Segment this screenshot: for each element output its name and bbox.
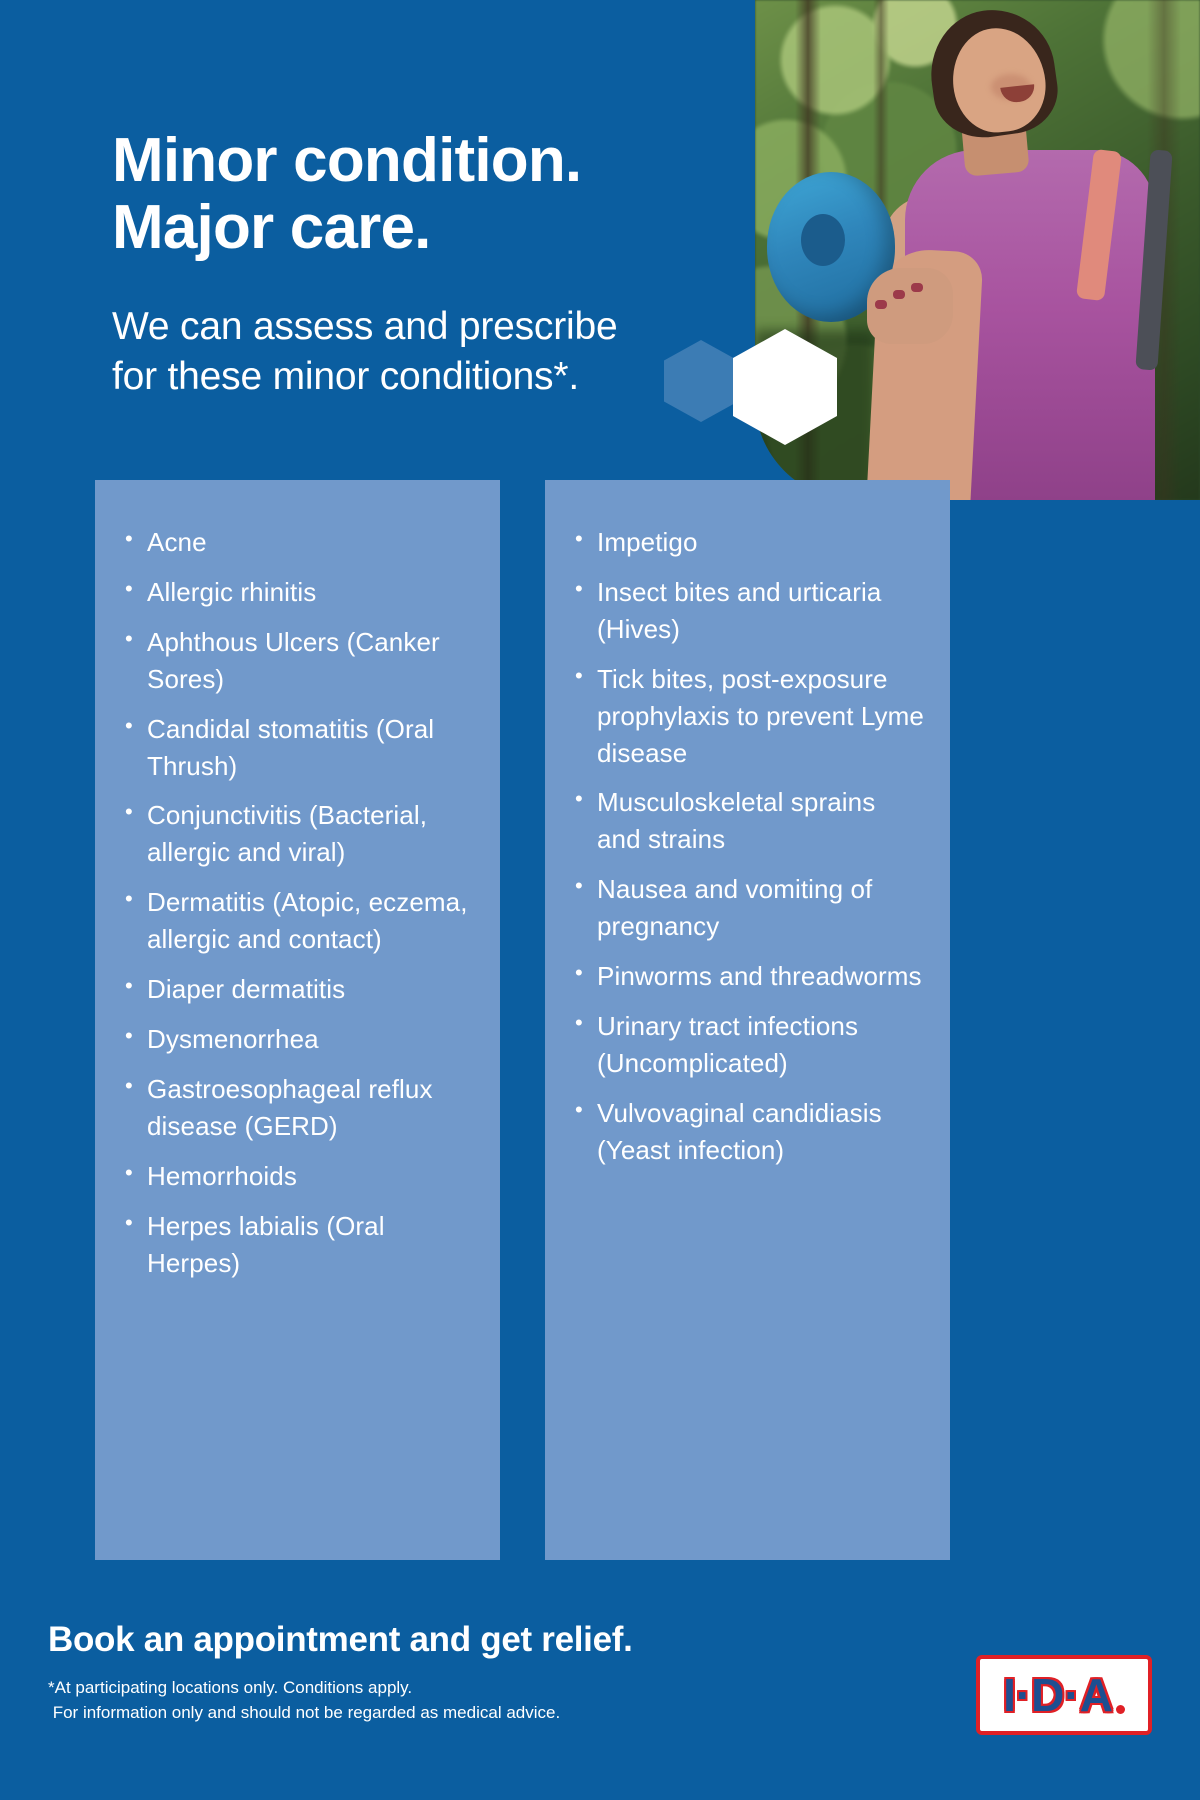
fingernail bbox=[893, 290, 905, 299]
list-item: Candidal stomatitis (Oral Thrush) bbox=[121, 711, 474, 785]
poster-root: Minor condition. Major care. We can asse… bbox=[0, 0, 1200, 1800]
list-item: Aphthous Ulcers (Canker Sores) bbox=[121, 624, 474, 698]
conditions-list-left: Acne Allergic rhinitis Aphthous Ulcers (… bbox=[121, 524, 474, 1281]
list-item: Gastroesophageal reflux disease (GERD) bbox=[121, 1071, 474, 1145]
headline-line-2: Major care. bbox=[112, 193, 431, 262]
conditions-panels: Acne Allergic rhinitis Aphthous Ulcers (… bbox=[95, 480, 1105, 1560]
list-item: Nausea and vomiting of pregnancy bbox=[571, 871, 924, 945]
list-item: Insect bites and urticaria (Hives) bbox=[571, 574, 924, 648]
list-item: Impetigo bbox=[571, 524, 924, 561]
list-item: Dermatitis (Atopic, eczema, allergic and… bbox=[121, 884, 474, 958]
list-item: Urinary tract infections (Uncomplicated) bbox=[571, 1008, 924, 1082]
ida-logo-text: I·D·A bbox=[1003, 1668, 1113, 1722]
fineprint-block: *At participating locations only. Condit… bbox=[48, 1676, 748, 1725]
page-title: Minor condition. Major care. bbox=[112, 128, 712, 262]
yoga-mat-core bbox=[801, 214, 845, 266]
subheading-line-2: for these minor conditions*. bbox=[112, 355, 579, 398]
conditions-list-right: Impetigo Insect bites and urticaria (Hiv… bbox=[571, 524, 924, 1169]
conditions-panel-right: Impetigo Insect bites and urticaria (Hiv… bbox=[545, 480, 950, 1560]
list-item: Diaper dermatitis bbox=[121, 971, 474, 1008]
list-item: Acne bbox=[121, 524, 474, 561]
list-item: Vulvovaginal candidiasis (Yeast infectio… bbox=[571, 1095, 924, 1169]
ida-logo-inner: I·D·A bbox=[1003, 1668, 1125, 1722]
list-item: Herpes labialis (Oral Herpes) bbox=[121, 1208, 474, 1282]
fineprint-line-1: *At participating locations only. Condit… bbox=[48, 1676, 748, 1701]
fingernail bbox=[911, 283, 923, 292]
list-item: Pinworms and threadworms bbox=[571, 958, 924, 995]
ida-logo: I·D·A bbox=[976, 1655, 1152, 1735]
list-item: Dysmenorrhea bbox=[121, 1021, 474, 1058]
subheading-line-1: We can assess and prescribe bbox=[112, 305, 617, 348]
subheading: We can assess and prescribe for these mi… bbox=[112, 302, 692, 401]
fineprint-line-2: For information only and should not be r… bbox=[48, 1701, 748, 1726]
list-item: Musculoskeletal sprains and strains bbox=[571, 784, 924, 858]
conditions-panel-left: Acne Allergic rhinitis Aphthous Ulcers (… bbox=[95, 480, 500, 1560]
call-to-action-text: Book an appointment and get relief. bbox=[48, 1620, 633, 1660]
list-item: Hemorrhoids bbox=[121, 1158, 474, 1195]
fingernail bbox=[875, 300, 887, 309]
headline-line-1: Minor condition. bbox=[112, 126, 581, 195]
list-item: Tick bites, post-exposure prophylaxis to… bbox=[571, 661, 924, 772]
headline-block: Minor condition. Major care. bbox=[112, 128, 712, 262]
list-item: Allergic rhinitis bbox=[121, 574, 474, 611]
list-item: Conjunctivitis (Bacterial, allergic and … bbox=[121, 797, 474, 871]
hero-photo bbox=[755, 0, 1200, 500]
ida-logo-dot bbox=[1116, 1705, 1125, 1714]
